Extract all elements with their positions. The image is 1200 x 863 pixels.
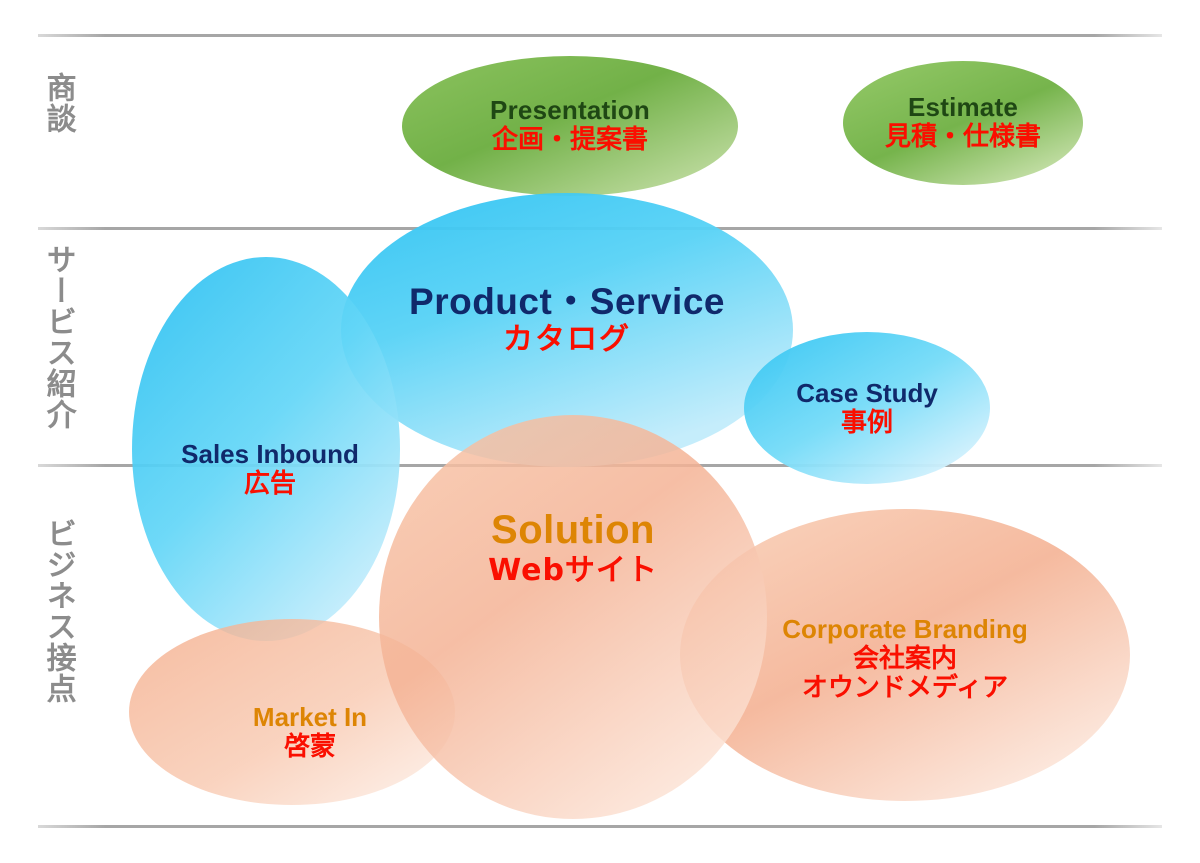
bubble-solution[interactable] <box>379 415 767 819</box>
bubble-presentation[interactable] <box>402 56 738 196</box>
axis-label-business: ビジネス接点 <box>42 518 73 718</box>
bubble-case-study[interactable] <box>744 332 990 484</box>
bubble-estimate[interactable] <box>843 61 1083 185</box>
divider-top <box>38 34 1162 37</box>
axis-label-service: サービス紹介 <box>42 244 73 444</box>
axis-label-shoudan: 商談 <box>42 72 73 202</box>
diagram-canvas: 商談 サービス紹介 ビジネス接点 Presentation 企画・提案書 Est… <box>0 0 1200 863</box>
bubble-sales-inbound[interactable] <box>132 257 400 641</box>
bubble-diagram <box>0 0 1200 863</box>
divider-bottom <box>38 825 1162 828</box>
